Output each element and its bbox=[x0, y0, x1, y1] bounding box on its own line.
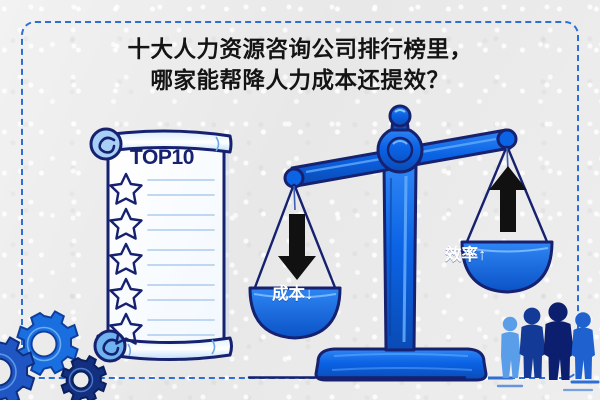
poster-canvas: 十大人力资源咨询公司排行榜里， 哪家能帮降人力成本还提效？ bbox=[0, 0, 600, 400]
person-silhouette bbox=[501, 317, 521, 378]
gear-cluster bbox=[0, 300, 122, 400]
person-silhouette bbox=[544, 302, 575, 380]
people-silhouettes bbox=[488, 296, 600, 400]
scroll-heading: TOP10 bbox=[84, 146, 240, 170]
page-title-line-2: 哪家能帮降人力成本还提效？ bbox=[0, 65, 600, 96]
gear-icon bbox=[62, 356, 106, 400]
people-silhouettes-graphic bbox=[488, 296, 600, 400]
person-silhouette bbox=[572, 312, 596, 379]
person-silhouette bbox=[520, 308, 546, 378]
efficiency-pan-label: 效率↑ bbox=[445, 241, 486, 265]
page-title: 十大人力资源咨询公司排行榜里， 哪家能帮降人力成本还提效？ bbox=[0, 34, 600, 96]
page-title-line-1: 十大人力资源咨询公司排行榜里， bbox=[0, 34, 600, 65]
gear-cluster-graphic bbox=[0, 300, 122, 400]
cost-pan-label: 成本↓ bbox=[272, 280, 313, 304]
